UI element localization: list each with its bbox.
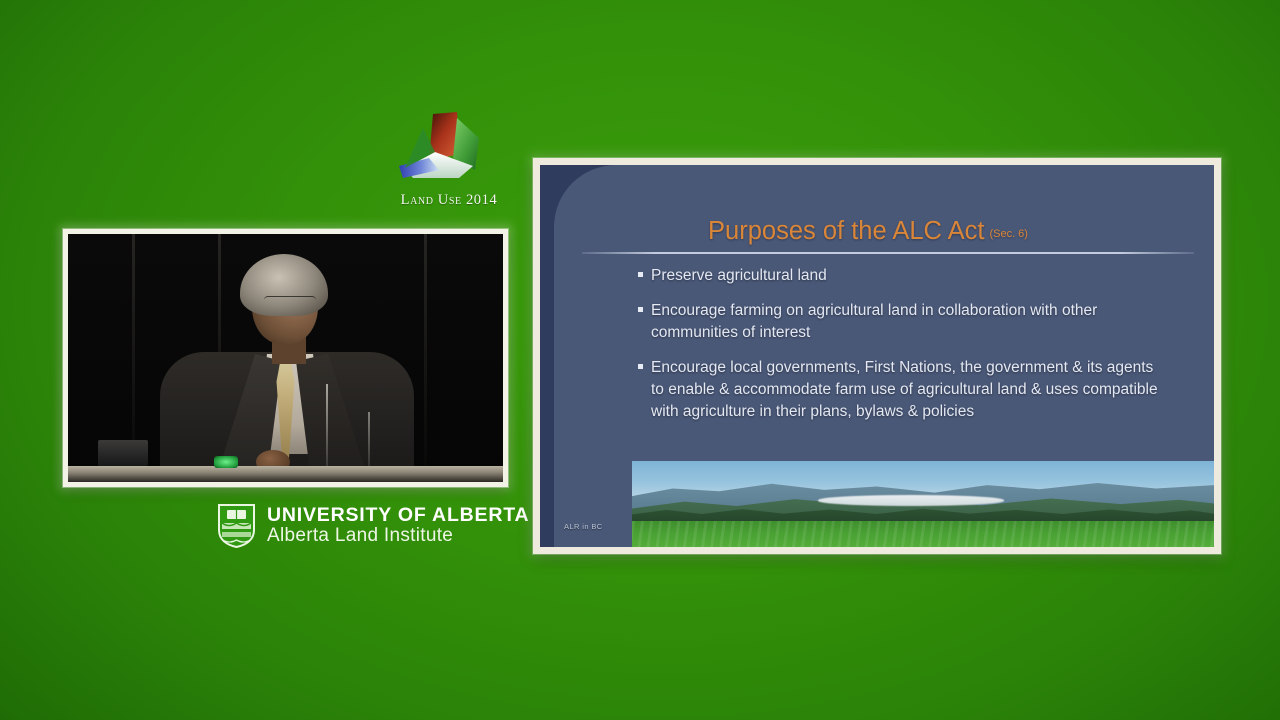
- photo-caption: ALR in BC: [564, 522, 603, 531]
- speaker-glasses: [264, 296, 316, 307]
- slide-title: Purposes of the ALC Act(Sec. 6): [540, 217, 1196, 246]
- slide-frame[interactable]: Purposes of the ALC Act(Sec. 6) Preserve…: [533, 158, 1221, 554]
- photo-crop-rows: [632, 521, 1214, 547]
- title-divider: [582, 252, 1194, 254]
- bullet-marker-icon: [638, 272, 643, 277]
- bullet-marker-icon: [638, 307, 643, 312]
- bullet-text: Preserve agricultural land: [651, 265, 1170, 287]
- event-logo-caption: Land Use 2014: [383, 192, 515, 209]
- bullet-marker-icon: [638, 364, 643, 369]
- microphone-stand: [326, 384, 328, 478]
- institution-unit: Alberta Land Institute: [267, 526, 529, 546]
- video-canvas: [68, 234, 503, 482]
- slide-title-text: Purposes of the ALC Act: [708, 217, 984, 245]
- podium-surface: [68, 466, 503, 482]
- slide-title-note: (Sec. 6): [989, 228, 1028, 240]
- list-item: Encourage local governments, First Natio…: [638, 357, 1170, 423]
- presentation-stage: Land Use 2014: [0, 0, 1280, 720]
- photo-river: [818, 495, 1004, 505]
- bullet-text: Encourage local governments, First Natio…: [651, 357, 1170, 423]
- list-item: Encourage farming on agricultural land i…: [638, 300, 1170, 344]
- slide-bullet-list: Preserve agricultural land Encourage far…: [638, 265, 1170, 436]
- slide-photo: [632, 461, 1214, 547]
- institution-wordmark: UNIVERSITY OF ALBERTA Alberta Land Insti…: [267, 505, 529, 546]
- podium-indicator-light: [214, 456, 238, 468]
- speaker-video[interactable]: [63, 229, 508, 487]
- event-logo: Land Use 2014: [383, 108, 515, 220]
- list-item: Preserve agricultural land: [638, 265, 1170, 287]
- backdrop-seam: [424, 234, 427, 482]
- landscape-mark-icon: [383, 108, 515, 192]
- institution-logo: UNIVERSITY OF ALBERTA Alberta Land Insti…: [217, 503, 529, 548]
- podium-laptop: [98, 440, 148, 466]
- slide-surface: Purposes of the ALC Act(Sec. 6) Preserve…: [540, 165, 1214, 547]
- bullet-text: Encourage farming on agricultural land i…: [651, 300, 1170, 344]
- uofa-shield-icon: [217, 503, 256, 548]
- institution-name: UNIVERSITY OF ALBERTA: [267, 505, 529, 526]
